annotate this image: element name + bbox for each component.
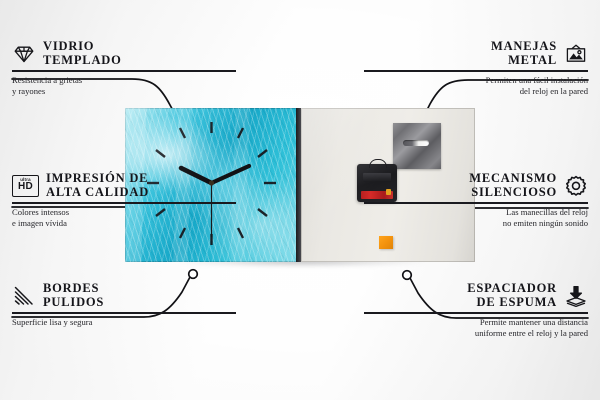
title-rule <box>12 70 236 72</box>
feature-vidrio-templado: VIDRIO TEMPLADO Resistencia a grietas y … <box>12 40 236 96</box>
feature-description: Las manecillas del reloj no emiten ningú… <box>364 207 588 228</box>
feature-title: MANEJAS METAL <box>491 40 557 67</box>
feature-title: VIDRIO TEMPLADO <box>43 40 122 67</box>
hanger-slot <box>403 140 429 146</box>
metal-hanger-plate <box>393 123 441 169</box>
feature-title: IMPRESIÓN DE ALTA CALIDAD <box>46 172 149 199</box>
picture-hanger-icon <box>564 42 588 66</box>
polished-edge-icon <box>12 284 36 308</box>
feature-bordes-pulidos: BORDES PULIDOS Superficie lisa y segura <box>12 282 236 328</box>
panel-edge <box>296 108 301 262</box>
foam-spacer-icon <box>564 284 588 308</box>
feature-mecanismo-silencioso: MECANISMO SILENCIOSO Las manecillas del … <box>364 172 588 228</box>
title-rule <box>364 202 588 204</box>
feature-description: Superficie lisa y segura <box>12 317 236 328</box>
title-rule <box>12 202 236 204</box>
feature-title: MECANISMO SILENCIOSO <box>469 172 557 199</box>
feature-description: Resistencia a grietas y rayones <box>12 75 236 96</box>
feature-title: ESPACIADOR DE ESPUMA <box>467 282 557 309</box>
foam-spacer-pad <box>379 236 393 249</box>
title-rule <box>364 312 588 314</box>
title-rule <box>364 70 588 72</box>
title-rule <box>12 312 236 314</box>
feature-description: Permiten una fácil instalación del reloj… <box>364 75 588 96</box>
diamond-icon <box>12 42 36 66</box>
feature-espaciador-espuma: ESPACIADOR DE ESPUMA Permite mantener un… <box>364 282 588 338</box>
feature-description: Permite mantener una distancia uniforme … <box>364 317 588 338</box>
ultra-hd-label: HD <box>18 182 33 193</box>
infographic-canvas: VIDRIO TEMPLADO Resistencia a grietas y … <box>0 0 600 400</box>
feature-impresion-alta-calidad: ultra HD IMPRESIÓN DE ALTA CALIDAD Color… <box>12 172 236 228</box>
movement-hook <box>369 159 387 168</box>
feature-manejas-metal: MANEJAS METAL Permiten una fácil instala… <box>364 40 588 96</box>
gear-icon <box>564 174 588 198</box>
feature-description: Colores intensos e imagen vívida <box>12 207 236 228</box>
feature-title: BORDES PULIDOS <box>43 282 104 309</box>
ultra-hd-icon: ultra HD <box>12 175 39 197</box>
